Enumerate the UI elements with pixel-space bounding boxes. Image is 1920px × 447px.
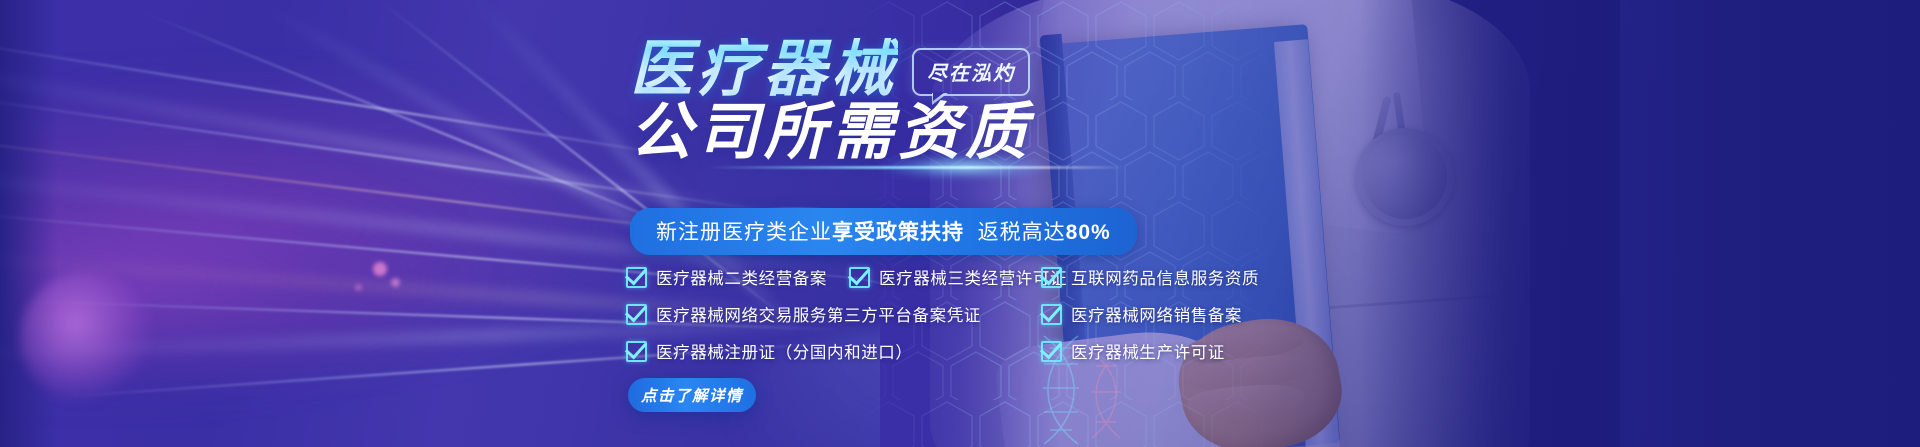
banner-content: 医疗器械 尽在泓灼 公司所需资质 新注册医疗类企业享受政策扶持 返税高达80% … (0, 0, 1920, 447)
check-square-icon (626, 341, 647, 362)
list-item-label: 医疗器械二类经营备案 (656, 265, 827, 289)
check-square-icon (849, 267, 870, 288)
checklist-column-right: 互联网药品信息服务资质 医疗器械网络销售备案 医疗器械生产许可证 (1041, 262, 1341, 373)
check-square-icon (1041, 304, 1062, 325)
list-item-label: 互联网药品信息服务资质 (1071, 265, 1259, 289)
subtitle-pill: 新注册医疗类企业享受政策扶持 返税高达80% (630, 208, 1137, 255)
badge-label: 尽在泓灼 (927, 63, 1015, 85)
list-item[interactable]: 医疗器械网络交易服务第三方平台备案凭证 (626, 299, 1046, 329)
list-item[interactable]: 互联网药品信息服务资质 (1041, 262, 1341, 292)
subtitle-prefix: 新注册医疗类企业 (656, 221, 832, 244)
list-item-label: 医疗器械网络交易服务第三方平台备案凭证 (656, 302, 981, 326)
check-square-icon (626, 267, 647, 288)
list-item[interactable]: 医疗器械三类经营许可证 (849, 262, 1067, 292)
subtitle-strong: 享受政策扶持 (832, 221, 964, 244)
subtitle-suffix: 返税高达 (978, 221, 1066, 244)
list-item-label: 医疗器械生产许可证 (1071, 339, 1225, 363)
check-square-icon (1041, 267, 1062, 288)
list-item[interactable]: 医疗器械二类经营备案 (626, 262, 827, 292)
headline-row: 医疗器械 尽在泓灼 (630, 38, 1030, 102)
check-square-icon (1041, 341, 1062, 362)
speech-bubble-badge: 尽在泓灼 (912, 48, 1030, 96)
headline-sparkle (880, 156, 1050, 178)
list-item[interactable]: 医疗器械网络销售备案 (1041, 299, 1341, 329)
list-item-label: 医疗器械网络销售备案 (1071, 302, 1242, 326)
list-item-label: 医疗器械注册证（分国内和进口） (656, 339, 913, 363)
checklist-first-row: 医疗器械二类经营备案 医疗器械三类经营许可证 (626, 262, 1046, 299)
list-item[interactable]: 医疗器械注册证（分国内和进口） (626, 336, 1046, 366)
list-item[interactable]: 医疗器械生产许可证 (1041, 336, 1341, 366)
medical-device-promo-banner: 医疗器械 尽在泓灼 公司所需资质 新注册医疗类企业享受政策扶持 返税高达80% … (0, 0, 1920, 447)
headline-primary: 医疗器械 (630, 38, 898, 102)
learn-more-button[interactable]: 点击了解详情 (628, 378, 756, 412)
subtitle-percent: 80% (1066, 221, 1111, 244)
check-square-icon (626, 304, 647, 325)
checklist-column-left: 医疗器械二类经营备案 医疗器械三类经营许可证 医疗器械网络交易服务第三方平台备案… (626, 262, 1046, 373)
